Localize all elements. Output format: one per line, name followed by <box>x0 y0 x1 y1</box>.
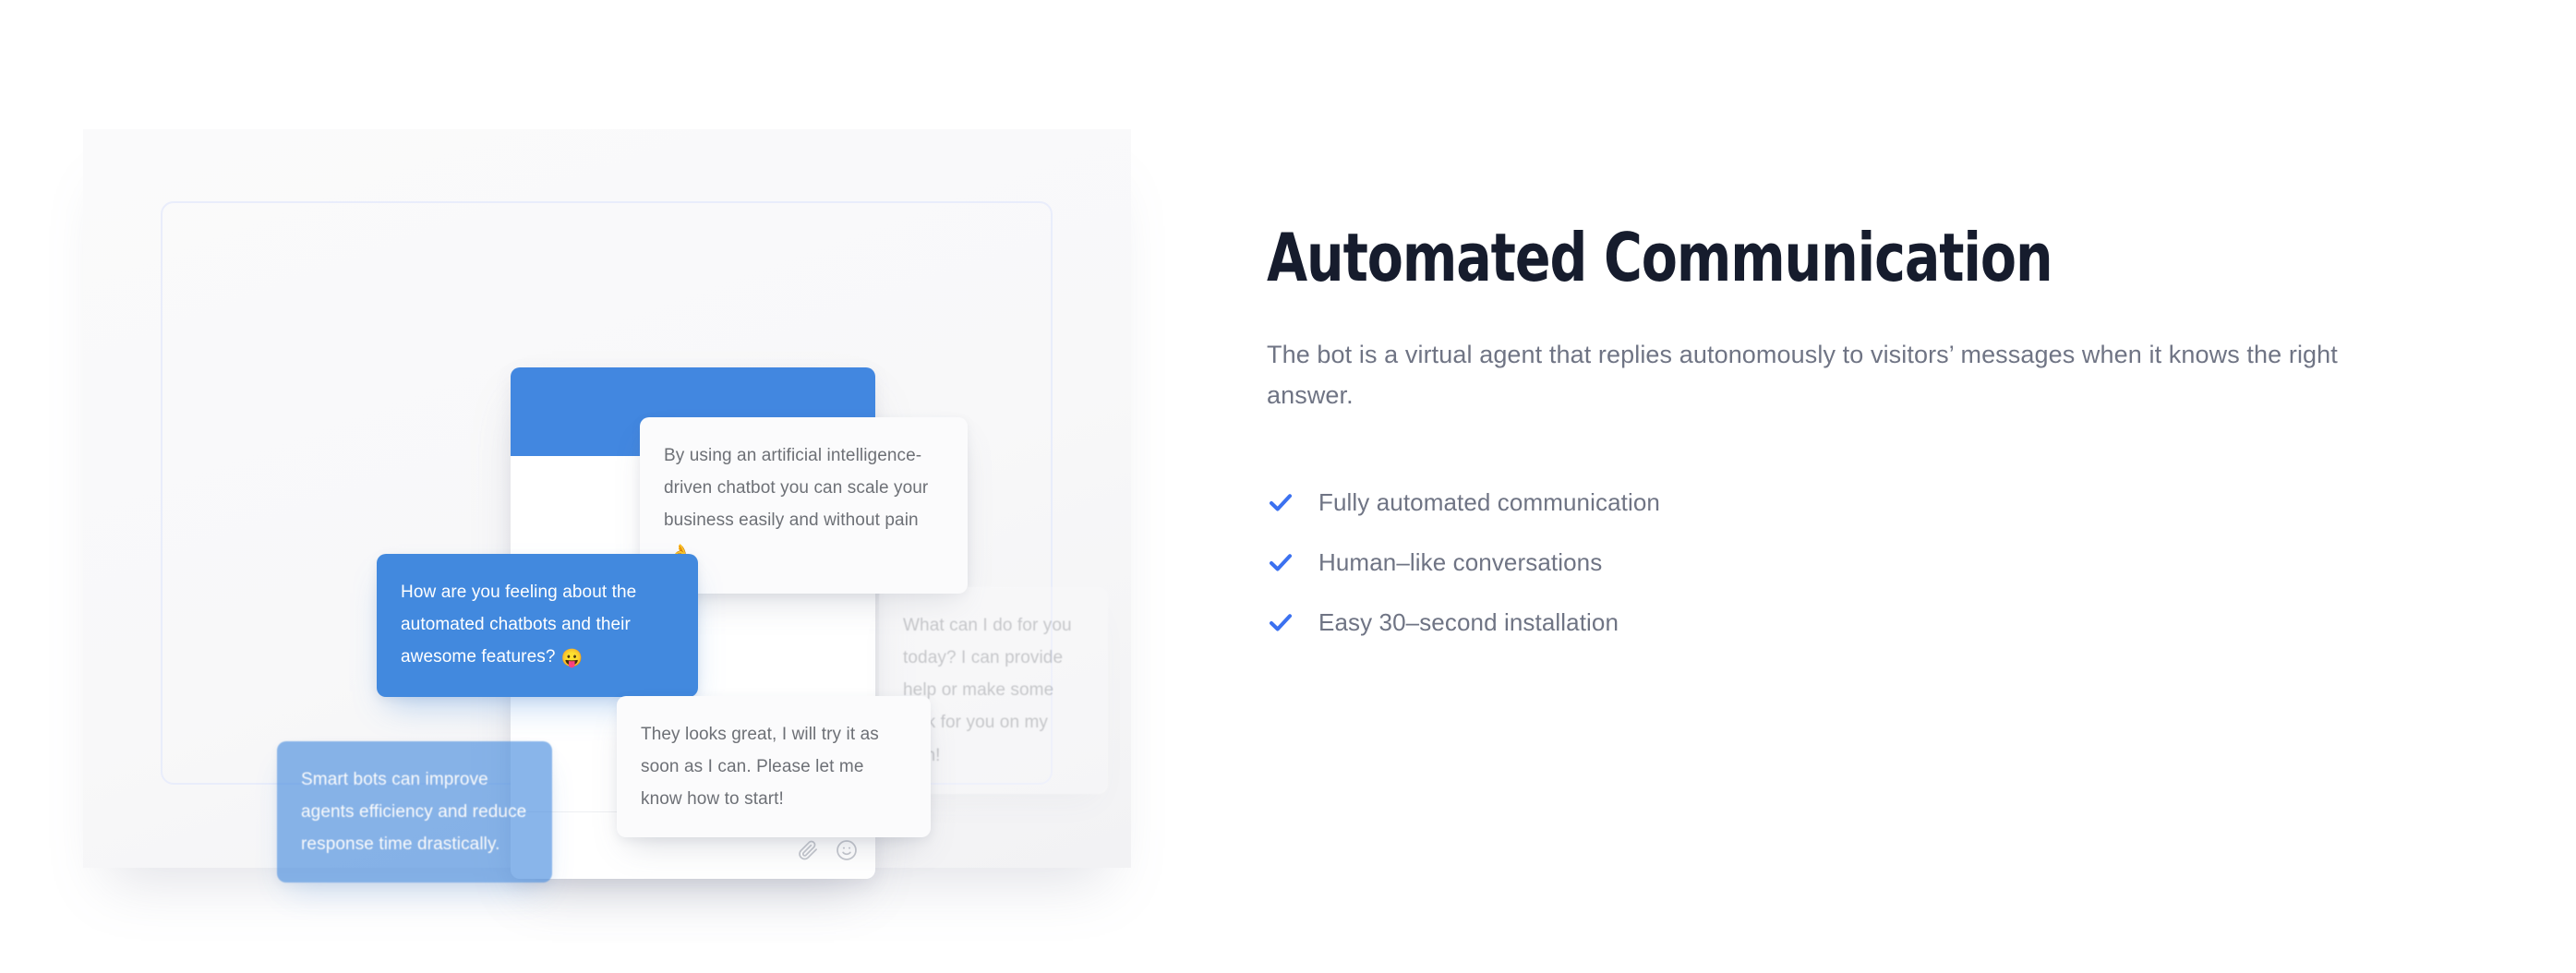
chat-composer <box>796 838 859 862</box>
page-subtitle: The bot is a virtual agent that replies … <box>1267 335 2356 415</box>
feature-label: Fully automated communication <box>1318 488 1660 517</box>
chat-bubble-text: They looks great, I will try it as soon … <box>641 725 879 809</box>
chat-illustration: By using an artificial intelligence-driv… <box>83 129 1131 868</box>
feature-section: By using an artificial intelligence-driv… <box>0 0 2576 973</box>
chat-bubble-text: How are you feeling about the automated … <box>401 583 636 667</box>
chat-bubble-text: Smart bots can improve agents efficiency… <box>301 770 526 854</box>
chat-bubble-visitor-reply: They looks great, I will try it as soon … <box>617 696 931 837</box>
feature-list-item: Fully automated communication <box>1267 488 2393 517</box>
feature-list-item: Easy 30–second installation <box>1267 608 2393 637</box>
tongue-face-emoji: 😛 <box>561 649 584 668</box>
page-title: Automated Communication <box>1267 222 2258 294</box>
smiley-icon[interactable] <box>835 838 859 862</box>
feature-label: Human–like conversations <box>1318 548 1602 577</box>
feature-copy: Automated Communication The bot is a vir… <box>1267 222 2393 668</box>
feature-label: Easy 30–second installation <box>1318 608 1619 637</box>
paperclip-icon[interactable] <box>796 838 820 862</box>
check-icon <box>1267 548 1294 576</box>
feature-list-item: Human–like conversations <box>1267 548 2393 577</box>
check-icon <box>1267 608 1294 636</box>
check-icon <box>1267 488 1294 516</box>
chat-bubble-text: By using an artificial intelligence-driv… <box>664 446 928 530</box>
chat-bubble-visitor-question: How are you feeling about the automated … <box>377 554 698 697</box>
feature-list: Fully automated communication Human–like… <box>1267 488 2393 637</box>
chat-bubble-agent-faded: Smart bots can improve agents efficiency… <box>277 741 552 883</box>
